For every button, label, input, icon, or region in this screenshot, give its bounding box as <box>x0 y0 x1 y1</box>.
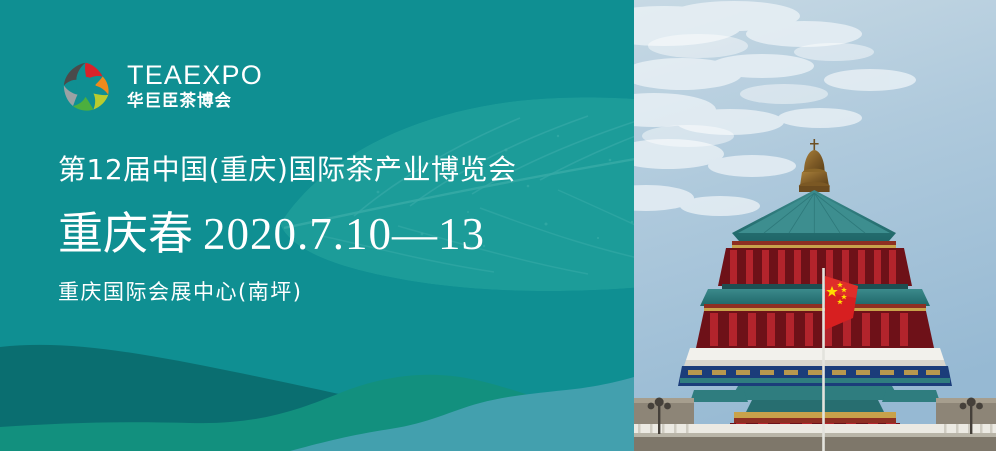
logo-subtitle: 华巨臣茶博会 <box>127 93 263 110</box>
teaexpo-circular-swirl-logo-icon <box>57 57 114 114</box>
brand-logo[interactable]: TEAEXPO 华巨臣茶博会 <box>57 57 263 114</box>
event-title: 第12届中国(重庆)国际茶产业博览会 <box>58 152 628 187</box>
event-date-city: 重庆春 <box>58 207 193 260</box>
event-date-value: 2020.7.10—13 <box>203 209 485 259</box>
logo-text-group: TEAEXPO 华巨臣茶博会 <box>127 62 263 110</box>
left-info-panel: TEAEXPO 华巨臣茶博会 第12届中国(重庆)国际茶产业博览会 重庆春202… <box>0 0 634 451</box>
tea-expo-banner: TEAEXPO 华巨臣茶博会 第12届中国(重庆)国际茶产业博览会 重庆春202… <box>0 0 996 451</box>
event-venue: 重庆国际会展中心(南坪) <box>58 280 628 305</box>
great-hall-illustration <box>634 0 996 451</box>
logo-wordmark: TEAEXPO <box>127 62 263 89</box>
headline-group: 第12届中国(重庆)国际茶产业博览会 重庆春2020.7.10—13 重庆国际会… <box>58 152 628 305</box>
mountain-wave-decoration <box>0 331 634 451</box>
event-date-line: 重庆春2020.7.10—13 <box>58 207 628 261</box>
great-hall-photo <box>634 0 996 451</box>
